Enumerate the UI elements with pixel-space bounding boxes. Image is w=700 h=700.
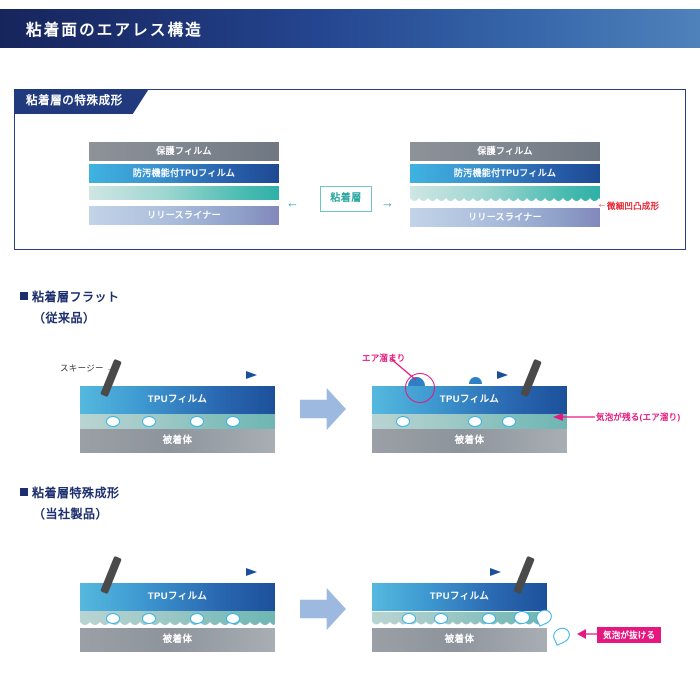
page-title: 粘着面のエアレス構造 bbox=[26, 18, 203, 40]
air-bubble bbox=[226, 416, 240, 427]
motion-arrow-right bbox=[138, 370, 258, 380]
air-bubble bbox=[142, 613, 156, 624]
air-bubble bbox=[434, 613, 448, 624]
air-remain-label: 気泡が残る(エア溜り) bbox=[596, 411, 680, 423]
section-subheading-special: （当社製品） bbox=[33, 505, 108, 522]
bubble-escape-leader-line bbox=[577, 628, 599, 640]
page-root: 粘着面のエアレス構造 粘着層の特殊成形 保護フィルム 防汚機能付TPUフィルム … bbox=[0, 0, 700, 700]
layer-release-liner: リリースライナー bbox=[89, 206, 279, 225]
motion-arrow-right bbox=[382, 567, 502, 577]
scene-special-before: TPUフィルム 被着体 bbox=[80, 555, 275, 645]
section-heading-special-label: 粘着層特殊成形 bbox=[32, 486, 120, 500]
layer-stack-embossed: 保護フィルム 防汚機能付TPUフィルム リリースライナー bbox=[410, 142, 600, 227]
adhesive-layer-callout: 粘着層 bbox=[320, 186, 372, 212]
air-bubble bbox=[514, 611, 530, 624]
micro-emboss-note: 微細凹凸成形 bbox=[607, 200, 659, 212]
scene-flat-before: TPUフィルム 被着体 bbox=[80, 358, 275, 448]
layer-tpu-film: 防汚機能付TPUフィルム bbox=[410, 164, 600, 183]
layer-stack-conventional: 保護フィルム 防汚機能付TPUフィルム リリースライナー bbox=[89, 142, 279, 225]
square-marker-icon bbox=[20, 488, 28, 496]
scene-special-after: TPUフィルム 被着体 bbox=[372, 555, 567, 650]
air-bubble bbox=[468, 416, 482, 427]
motion-arrow-right bbox=[138, 567, 258, 577]
layer-adhesive-flat bbox=[89, 186, 279, 200]
air-bubble bbox=[226, 613, 240, 624]
section-heading-flat: 粘着層フラット bbox=[20, 288, 120, 305]
air-bubble bbox=[396, 416, 410, 427]
substrate-band: 被着体 bbox=[80, 429, 275, 453]
process-arrow-icon bbox=[300, 388, 346, 430]
air-bubble bbox=[502, 416, 516, 427]
air-pocket-highlight-circle bbox=[405, 373, 435, 403]
air-bubble bbox=[190, 613, 204, 624]
section-subheading-flat: （従来品） bbox=[33, 309, 96, 326]
panel-tab-label: 粘着層の特殊成形 bbox=[14, 89, 149, 114]
air-bubble bbox=[106, 613, 120, 624]
arrow-left-icon: ← bbox=[286, 196, 299, 209]
header-banner: 粘着面のエアレス構造 bbox=[0, 9, 700, 48]
layer-adhesive-embossed bbox=[410, 186, 600, 204]
layer-protect-film: 保護フィルム bbox=[410, 142, 600, 161]
air-bubble bbox=[402, 613, 416, 624]
layer-protect-film: 保護フィルム bbox=[89, 142, 279, 161]
process-arrow-icon bbox=[300, 588, 346, 630]
escaping-bubble bbox=[551, 625, 573, 646]
section-heading-flat-label: 粘着層フラット bbox=[32, 290, 120, 304]
arrow-right-icon: → bbox=[381, 196, 394, 209]
air-bubble bbox=[142, 416, 156, 427]
section-heading-special: 粘着層特殊成形 bbox=[20, 484, 120, 501]
square-marker-icon bbox=[20, 292, 28, 300]
layer-release-liner: リリースライナー bbox=[410, 208, 600, 227]
substrate-band: 被着体 bbox=[80, 628, 275, 652]
air-bubble bbox=[482, 613, 496, 624]
arrow-left-red-icon: ← bbox=[597, 200, 607, 210]
air-bubble bbox=[106, 416, 120, 427]
air-remain-leader-line bbox=[553, 412, 597, 422]
tpu-film-band: TPUフィルム bbox=[372, 386, 567, 414]
substrate-band: 被着体 bbox=[372, 429, 567, 453]
air-bubble bbox=[190, 416, 204, 427]
substrate-band: 被着体 bbox=[372, 628, 547, 652]
bubble-escape-badge: 気泡が抜ける bbox=[597, 627, 661, 643]
layer-tpu-film: 防汚機能付TPUフィルム bbox=[89, 164, 279, 183]
